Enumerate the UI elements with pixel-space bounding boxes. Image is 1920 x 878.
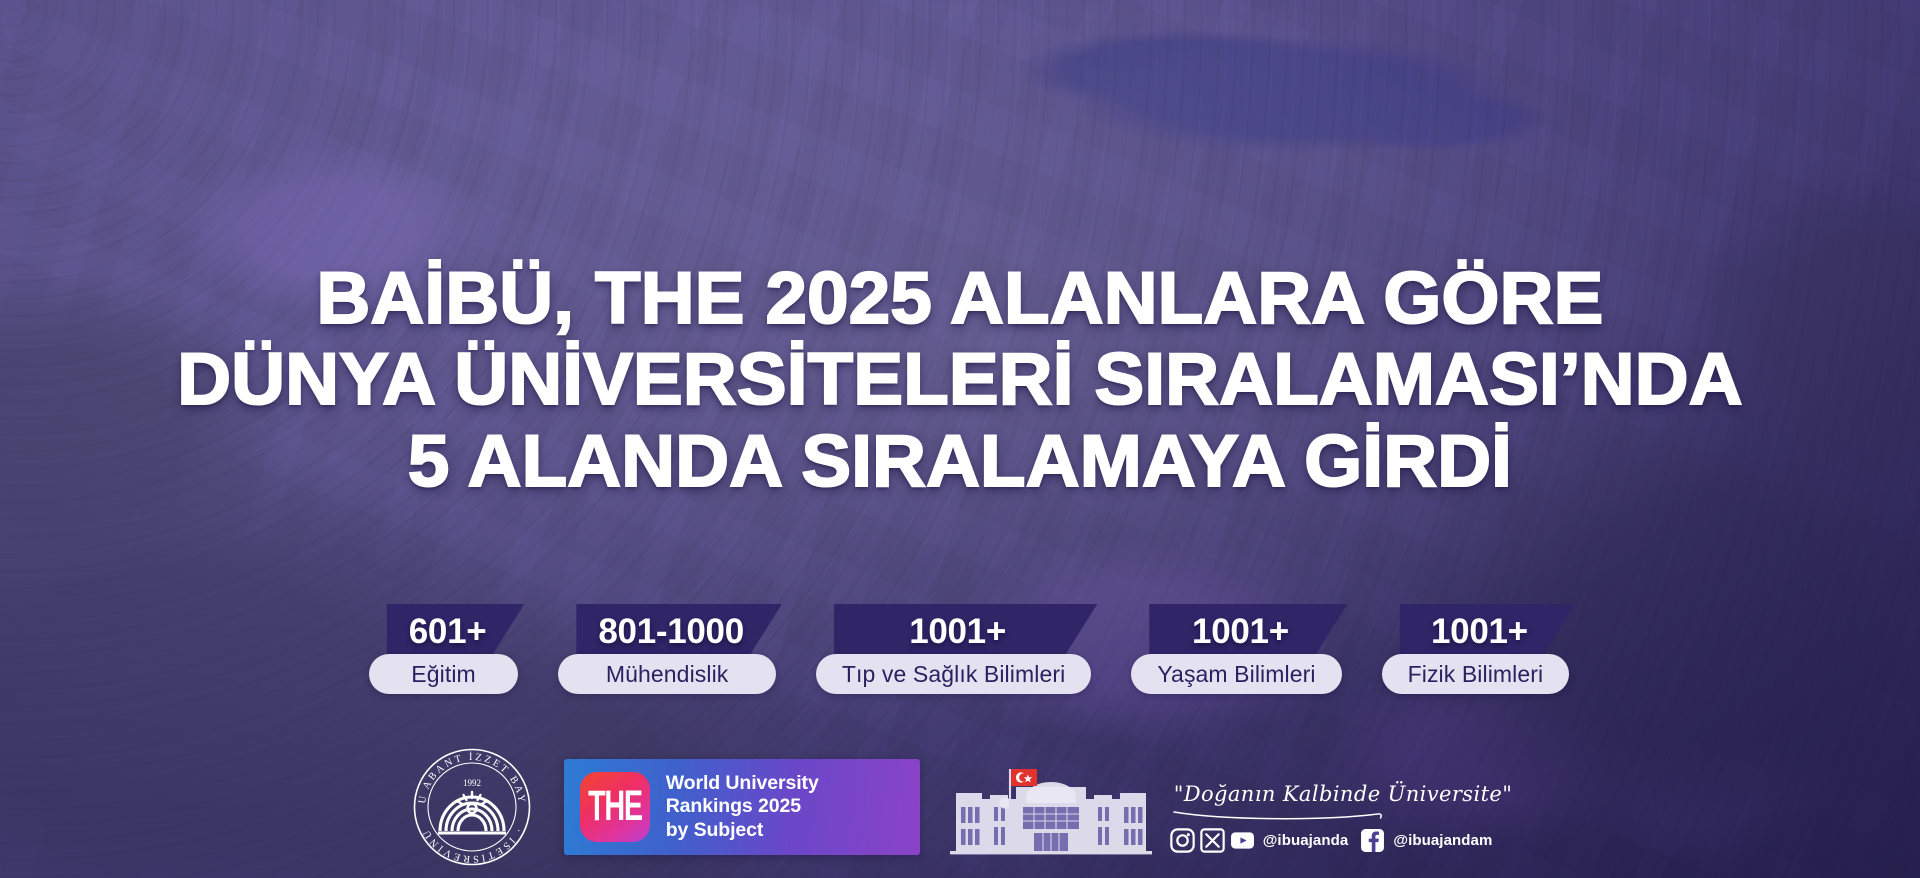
youtube-icon[interactable] [1230, 828, 1255, 853]
badge-field-pill: Yaşam Bilimleri [1131, 654, 1341, 694]
badge-rank-banner: 601+ [387, 604, 525, 658]
badge-field-label: Eğitim [411, 663, 476, 686]
badge-rank-value: 1001+ [909, 614, 1022, 649]
badge-field-label: Yaşam Bilimleri [1157, 663, 1315, 686]
the-logo-caption: World University Rankings 2025 by Subjec… [666, 772, 819, 842]
badge-rank-banner: 1001+ [1400, 604, 1576, 658]
tagline-swash-underline-icon [1172, 810, 1384, 821]
badge-field-label: Mühendislik [606, 663, 729, 686]
badge-yasam-bilimleri: 1001+ Yaşam Bilimleri [1131, 604, 1341, 694]
badge-field-label: Fizik Bilimleri [1408, 663, 1544, 686]
university-tagline: "Doğanın Kalbinde Üniversite" [1168, 784, 1513, 805]
x-twitter-icon[interactable] [1200, 828, 1225, 853]
badge-rank-value: 1001+ [1192, 614, 1305, 649]
badge-egitim: 601+ Eğitim [369, 604, 519, 694]
headline-line-2: DÜNYA ÜNİVERSİTELERİ SIRALAMASI’NDA [0, 339, 1920, 420]
social-handle-primary[interactable]: @ibuajanda [1263, 833, 1349, 848]
the-rankings-logo: THE World University Rankings 2025 by Su… [564, 759, 920, 855]
badge-field-pill: Fizik Bilimleri [1382, 654, 1570, 694]
the-logo-mark-icon: THE [580, 772, 650, 842]
facebook-icon[interactable] [1360, 828, 1385, 853]
badge-field-pill: Mühendislik [558, 654, 776, 694]
the-logo-line-1: World University [666, 772, 819, 795]
footer-logo-strip: BOLU ABANT İZZET BAYSAL · İSETİSREVİNÜ 1… [0, 736, 1920, 878]
badge-field-pill: Tıp ve Sağlık Bilimleri [816, 654, 1091, 694]
badge-field-label: Tıp ve Sağlık Bilimleri [842, 663, 1065, 686]
campus-branding-block: "Doğanın Kalbinde Üniversite" [948, 755, 1513, 859]
social-handle-facebook[interactable]: @ibuajandam [1393, 833, 1492, 848]
badge-tip-ve-saglik-bilimleri: 1001+ Tıp ve Sağlık Bilimleri [816, 604, 1091, 694]
the-logo-mark-text: THE [588, 786, 642, 829]
tagline-and-socials: "Doğanın Kalbinde Üniversite" [1168, 784, 1513, 859]
headline-line-1: BAİBÜ, THE 2025 ALANLARA GÖRE [0, 258, 1920, 339]
subject-ranking-badges: 601+ Eğitim 801-1000 Mühendislik 1001+ [0, 604, 1920, 702]
badge-rank-value: 801-1000 [598, 614, 760, 649]
the-logo-line-3: by Subject [666, 819, 819, 842]
university-seal-icon: BOLU ABANT İZZET BAYSAL · İSETİSREVİNÜ 1… [408, 743, 536, 871]
instagram-icon[interactable] [1170, 828, 1195, 853]
poster-banner: BAİBÜ, THE 2025 ALANLARA GÖRE DÜNYA ÜNİV… [0, 0, 1920, 878]
campus-building-icon [948, 763, 1154, 859]
social-links: @ibuajanda @ibuajandam [1168, 828, 1513, 853]
badge-rank-value: 601+ [409, 614, 503, 649]
badge-fizik-bilimleri: 1001+ Fizik Bilimleri [1382, 604, 1570, 694]
the-logo-line-2: Rankings 2025 [666, 795, 819, 818]
badge-rank-banner: 1001+ [1149, 604, 1347, 658]
poster-content: BAİBÜ, THE 2025 ALANLARA GÖRE DÜNYA ÜNİV… [0, 0, 1920, 878]
badge-rank-value: 1001+ [1431, 614, 1544, 649]
badge-rank-banner: 1001+ [834, 604, 1097, 658]
svg-text:1992: 1992 [463, 778, 481, 788]
badge-rank-banner: 801-1000 [576, 604, 782, 658]
headline-line-3: 5 ALANDA SIRALAMAYA GİRDİ [0, 421, 1920, 502]
badge-field-pill: Eğitim [369, 654, 519, 694]
badge-muhendislik: 801-1000 Mühendislik [558, 604, 776, 694]
headline: BAİBÜ, THE 2025 ALANLARA GÖRE DÜNYA ÜNİV… [0, 258, 1920, 502]
